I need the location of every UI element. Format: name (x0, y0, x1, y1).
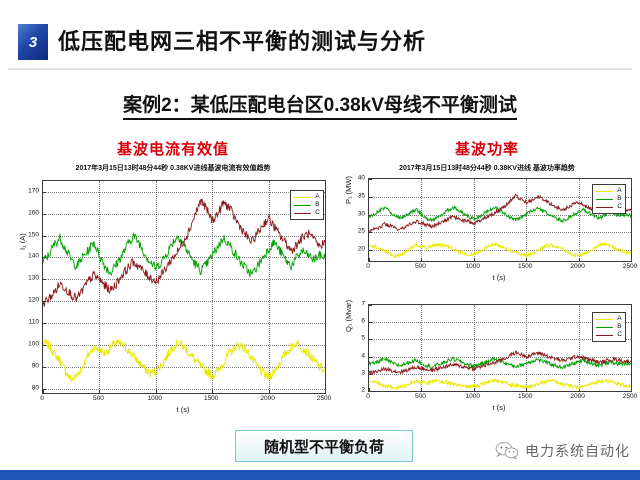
legend-item: B (596, 323, 622, 331)
y-tick-label: 140 (13, 253, 39, 260)
page-title: 低压配电网三相不平衡的测试与分析 (58, 24, 426, 60)
x-tick-mark (631, 258, 632, 261)
series-layer (43, 181, 325, 393)
x-tick-label: 2500 (317, 395, 331, 402)
y-tick-label: 100 (13, 340, 39, 347)
legend-item: C (596, 203, 622, 211)
y-tick-mark (369, 391, 372, 392)
legend-item: A (294, 193, 320, 201)
x-tick-label: 1500 (518, 393, 532, 400)
x-tick-label: 1000 (466, 393, 480, 400)
case-subtitle-text: 案例2：某低压配电台区0.38kV母线不平衡测试 (123, 95, 517, 120)
legend-swatch-A (596, 191, 613, 192)
legend-swatch-C (294, 213, 311, 214)
legend-swatch-B (294, 205, 311, 206)
legend-label: A (617, 315, 621, 323)
y-axis-label: P₁ (MW) (344, 176, 353, 204)
y-axis-label: I₁ (A) (18, 233, 27, 250)
y-tick-label: 3 (339, 369, 365, 376)
x-tick-mark (325, 390, 326, 393)
header-divider (8, 68, 632, 70)
y-tick-label: 110 (13, 319, 39, 326)
x-axis-label: t (s) (368, 403, 630, 412)
x-tick-label: 2000 (260, 395, 274, 402)
x-tick-label: 1000 (148, 395, 162, 402)
y-tick-label: 160 (13, 209, 39, 216)
y-tick-label: 4 (339, 352, 365, 359)
x-tick-label: 0 (366, 263, 370, 270)
x-tick-label: 1000 (466, 263, 480, 270)
x-tick-label: 2500 (623, 393, 637, 400)
y-tick-label: 90 (13, 362, 39, 369)
chart-legend: ABC (592, 312, 626, 342)
chart-subcaption-power: 2017年3月15日13时48分44秒 0.38KV进线 基波功率趋势 (334, 163, 640, 173)
x-axis-label: t (s) (368, 273, 630, 282)
legend-label: C (617, 331, 622, 339)
slide-number-badge: 3 (18, 24, 48, 60)
y-tick-label: 80 (13, 384, 39, 391)
x-axis-label: t (s) (42, 405, 324, 414)
bottom-caption-text: 随机型不平衡负荷 (264, 436, 384, 457)
plot-area-reactive-power: 23456705001000150020002500t (s)Q₁ (Mvar)… (334, 298, 640, 426)
chart-panel-reactive-power: 23456705001000150020002500t (s)Q₁ (Mvar)… (334, 298, 640, 428)
y-axis-label: Q₁ (Mvar) (344, 300, 353, 332)
x-tick-label: 0 (366, 393, 370, 400)
wechat-icon (495, 441, 519, 461)
chart-subcaption-current: 2017年3月15日13时48分44秒 0.38KV进线基波电流有效值趋势 (8, 163, 338, 173)
legend-swatch-B (596, 199, 613, 200)
x-tick-label: 1500 (204, 395, 218, 402)
legend-swatch-C (596, 207, 613, 208)
footer-brand: 电力系统自动化 (495, 436, 630, 466)
footer-bar (0, 470, 640, 480)
x-tick-mark (631, 388, 632, 391)
y-tick-label: 170 (13, 187, 39, 194)
legend-label: B (315, 201, 319, 209)
chart-legend: ABC (290, 190, 324, 220)
chart-panel-active-power: 基波功率 2017年3月15日13时48分44秒 0.38KV进线 基波功率趋势… (334, 138, 640, 298)
series-line-A (369, 379, 631, 389)
legend-swatch-C (596, 335, 613, 336)
legend-swatch-A (294, 197, 311, 198)
chart-heading-power: 基波功率 (334, 138, 640, 159)
legend-label: C (315, 209, 320, 217)
legend-label: A (315, 193, 319, 201)
legend-item: B (294, 201, 320, 209)
legend-swatch-A (596, 319, 613, 320)
case-subtitle: 案例2：某低压配电台区0.38kV母线不平衡测试 (0, 90, 640, 117)
legend-label: A (617, 187, 621, 195)
y-tick-label: 5 (339, 335, 365, 342)
legend-label: B (617, 323, 621, 331)
y-tick-label: 120 (13, 297, 39, 304)
footer-brand-text: 电力系统自动化 (525, 441, 630, 461)
x-tick-label: 1500 (518, 263, 532, 270)
plot-area-current: 8090100110120130140150160170050010001500… (8, 176, 338, 426)
legend-item: C (596, 331, 622, 339)
plot-area-active-power: 202530354005001000150020002500t (s)P₁ (M… (334, 176, 640, 298)
legend-item: A (596, 315, 622, 323)
plot-box (42, 180, 326, 394)
y-tick-label: 130 (13, 275, 39, 282)
legend-label: C (617, 203, 622, 211)
legend-label: B (617, 195, 621, 203)
y-tick-label: 20 (339, 246, 365, 253)
x-tick-label: 500 (415, 263, 426, 270)
legend-swatch-B (596, 327, 613, 328)
x-tick-label: 2000 (570, 393, 584, 400)
legend-item: A (596, 187, 622, 195)
series-line-A (43, 339, 325, 382)
x-tick-label: 2000 (570, 263, 584, 270)
slide-header: 3 低压配电网三相不平衡的测试与分析 (0, 24, 640, 70)
y-tick-label: 2 (339, 387, 365, 394)
y-tick-label: 25 (339, 228, 365, 235)
bottom-caption-box: 随机型不平衡负荷 (235, 430, 413, 462)
legend-item: C (294, 209, 320, 217)
chart-legend: ABC (592, 184, 626, 214)
series-line-A (369, 243, 631, 258)
chart-heading-current: 基波电流有效值 (8, 138, 338, 159)
legend-item: B (596, 195, 622, 203)
y-tick-label: 30 (339, 210, 365, 217)
x-tick-label: 500 (415, 393, 426, 400)
x-tick-label: 2500 (623, 263, 637, 270)
x-tick-label: 0 (40, 395, 44, 402)
chart-panel-fundamental-current: 基波电流有效值 2017年3月15日13时48分44秒 0.38KV进线基波电流… (8, 138, 338, 428)
x-tick-label: 500 (93, 395, 104, 402)
